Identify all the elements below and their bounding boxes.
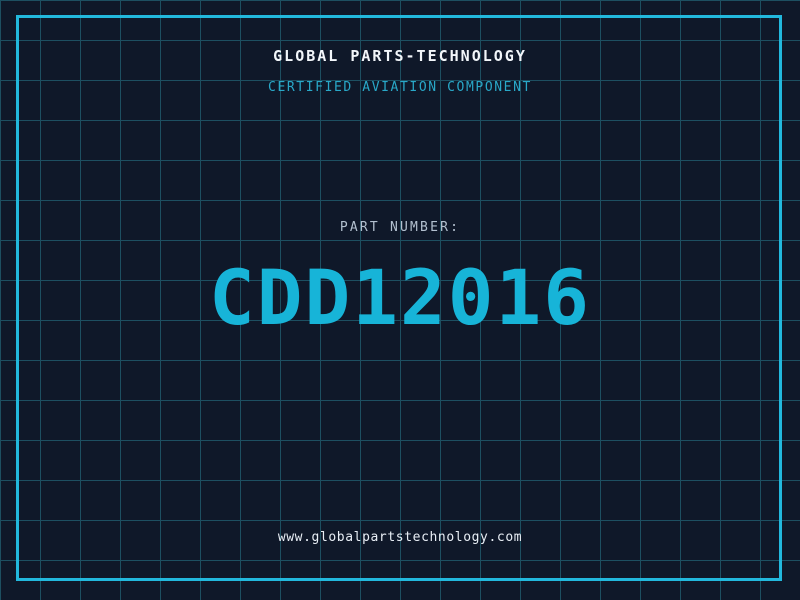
card-content: GLOBAL PARTS-TECHNOLOGY CERTIFIED AVIATI… — [0, 0, 800, 600]
part-number-blueprint-card: GLOBAL PARTS-TECHNOLOGY CERTIFIED AVIATI… — [0, 0, 800, 600]
part-number-label: PART NUMBER: — [0, 220, 800, 235]
footer-website-url: www.globalpartstechnology.com — [0, 530, 800, 545]
company-subtitle: CERTIFIED AVIATION COMPONENT — [0, 80, 800, 95]
company-title: GLOBAL PARTS-TECHNOLOGY — [0, 47, 800, 65]
part-number-value: CDD12016 — [0, 258, 800, 338]
